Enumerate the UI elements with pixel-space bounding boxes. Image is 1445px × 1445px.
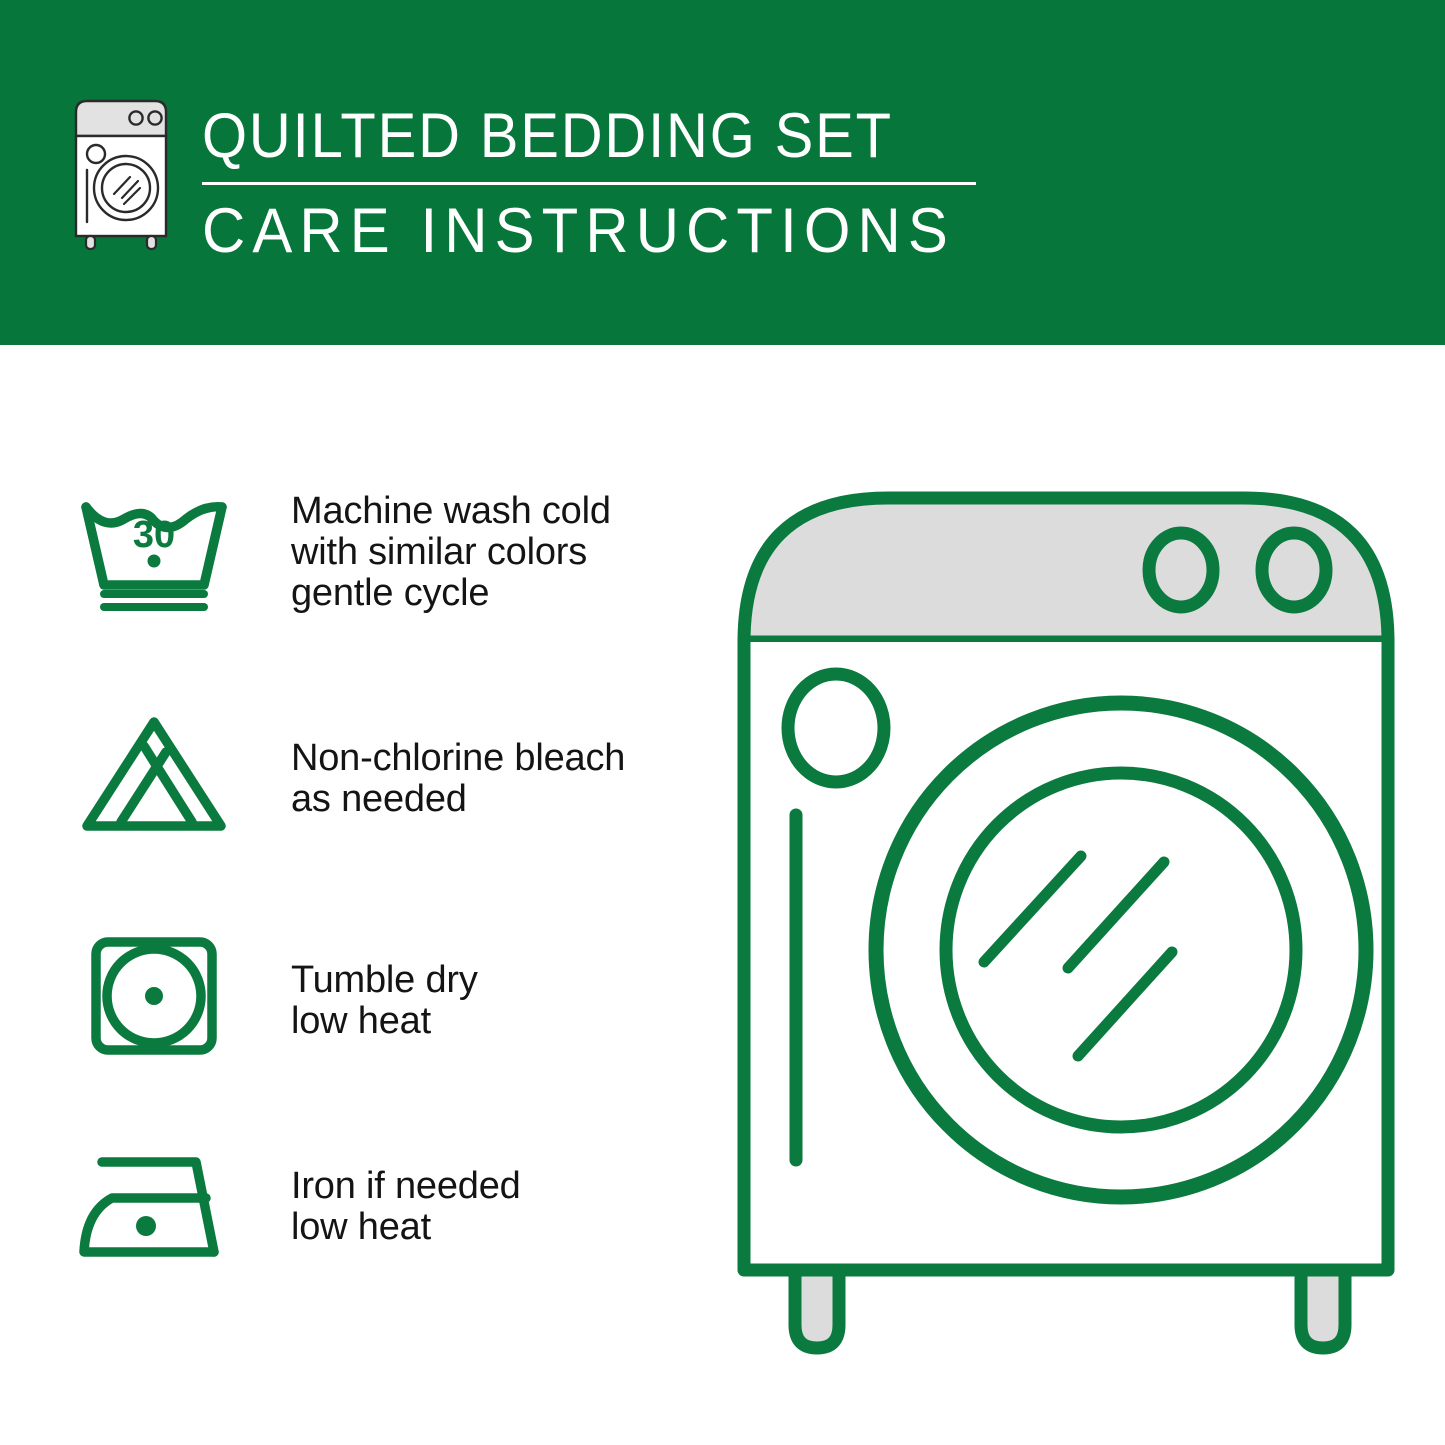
care-line: with similar colors [291, 532, 700, 573]
care-instructions-infographic: QUILTED BEDDING SET CARE INSTRUCTIONS 30 [0, 0, 1445, 1445]
title-divider [202, 182, 976, 185]
care-line: gentle cycle [291, 573, 700, 614]
front-load-washing-machine-illustration [716, 470, 1416, 1370]
list-item-label: Iron if needed low heat [291, 1140, 700, 1248]
care-line: low heat [291, 1001, 700, 1042]
care-line: Tumble dry [291, 960, 700, 1001]
care-instruction-list: 30 Machine wash cold with similar colors… [0, 345, 700, 1445]
list-item-label: Tumble dry low heat [291, 930, 700, 1042]
list-item: Tumble dry low heat [0, 930, 700, 1060]
header-banner: QUILTED BEDDING SET CARE INSTRUCTIONS [0, 0, 1445, 345]
list-item-label: Non-chlorine bleach as needed [291, 710, 700, 820]
care-line: low heat [291, 1207, 700, 1248]
list-item: Non-chlorine bleach as needed [0, 710, 700, 840]
care-line: Machine wash cold [291, 491, 700, 532]
wash-temperature-value: 30 [132, 514, 174, 556]
page-title: QUILTED BEDDING SET [202, 102, 931, 170]
tumble-dry-low-heat-icon [66, 930, 241, 1060]
washing-machine-icon [62, 98, 180, 250]
wash-tub-30-gentle-icon: 30 [66, 485, 241, 615]
header-content: QUILTED BEDDING SET CARE INSTRUCTIONS [62, 98, 995, 265]
header-title-block: QUILTED BEDDING SET CARE INSTRUCTIONS [202, 98, 995, 265]
list-item: 30 Machine wash cold with similar colors… [0, 485, 700, 615]
page-subtitle: CARE INSTRUCTIONS [202, 197, 955, 265]
iron-low-heat-icon [66, 1140, 241, 1270]
care-line: Iron if needed [291, 1166, 700, 1207]
care-line: Non-chlorine bleach [291, 738, 700, 779]
list-item-label: Machine wash cold with similar colors ge… [291, 485, 700, 614]
triangle-non-chlorine-bleach-icon [66, 710, 241, 840]
list-item: Iron if needed low heat [0, 1140, 700, 1270]
care-line: as needed [291, 779, 700, 820]
